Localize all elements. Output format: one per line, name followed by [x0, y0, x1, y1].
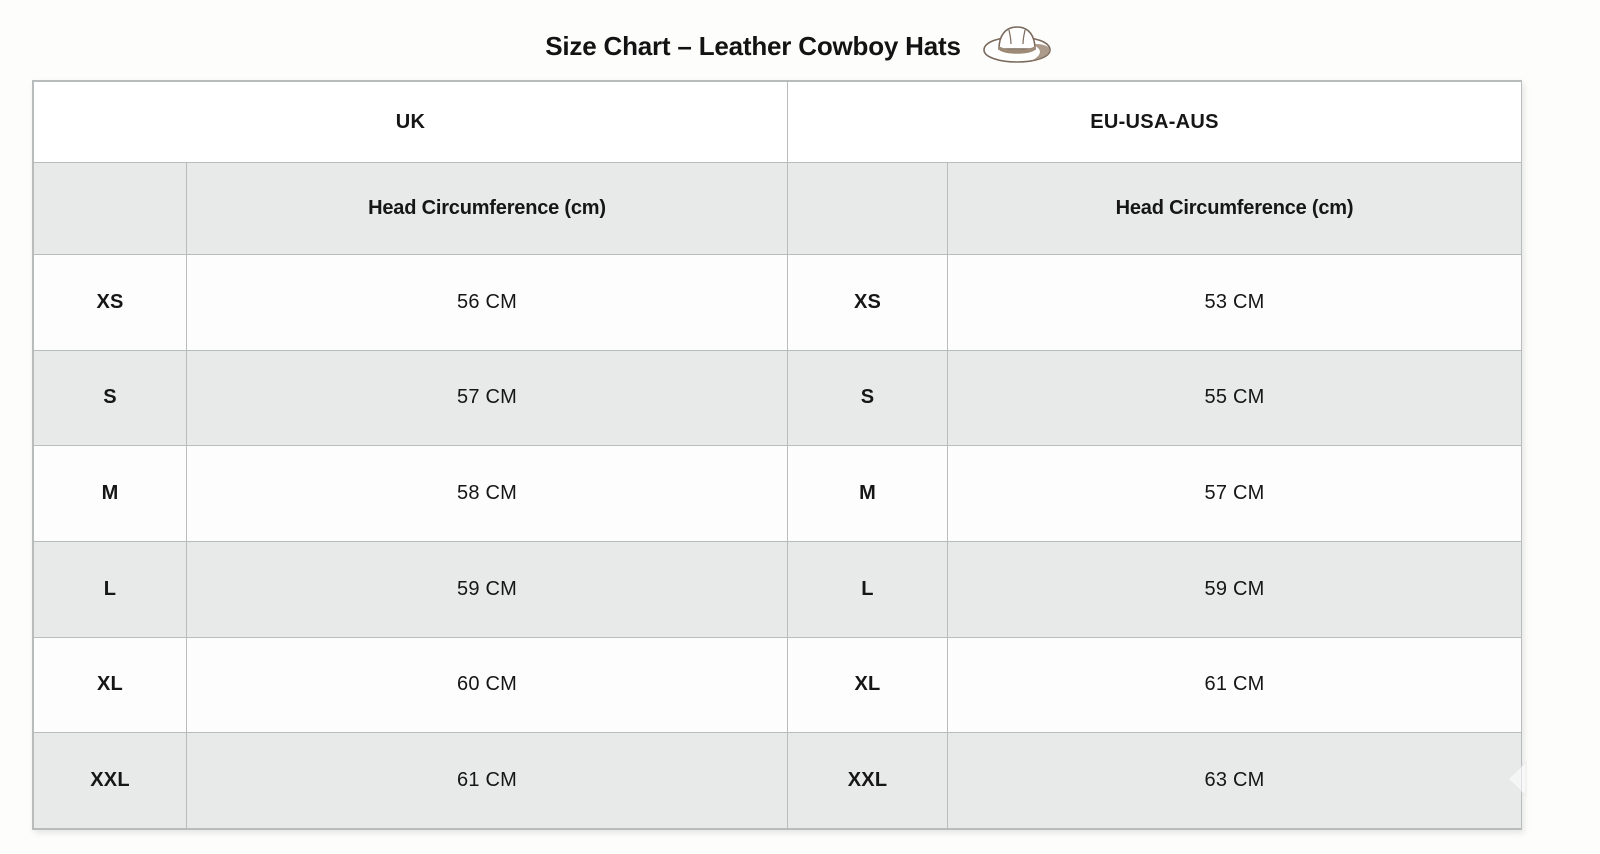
region-header-row: UK EU-USA-AUS: [34, 82, 1522, 163]
uk-measure-value: 56 CM: [187, 255, 788, 351]
uk-size-label: S: [34, 350, 187, 446]
measure-header-uk-size-blank: [34, 163, 187, 255]
uk-measure-value: 57 CM: [187, 350, 788, 446]
eu-size-label: L: [788, 541, 948, 637]
region-header-eu-usa-aus: EU-USA-AUS: [788, 82, 1522, 163]
eu-measure-value: 59 CM: [948, 541, 1522, 637]
uk-measure-value: 60 CM: [187, 637, 788, 733]
table-row: XXL 61 CM XXL 63 CM: [34, 733, 1522, 829]
measure-header-eu: Head Circumference (cm): [948, 163, 1522, 255]
table-row: XL 60 CM XL 61 CM: [34, 637, 1522, 733]
eu-measure-value: 61 CM: [948, 637, 1522, 733]
cowboy-hat-icon: [979, 22, 1055, 71]
size-chart-table-container: UK EU-USA-AUS Head Circumference (cm) He…: [32, 80, 1522, 830]
uk-size-label: XS: [34, 255, 187, 351]
eu-size-label: M: [788, 446, 948, 542]
chevron-left-icon[interactable]: [1496, 756, 1542, 802]
uk-measure-value: 61 CM: [187, 733, 788, 829]
page-title-bar: Size Chart – Leather Cowboy Hats: [0, 22, 1600, 71]
size-chart-table: UK EU-USA-AUS Head Circumference (cm) He…: [33, 81, 1522, 829]
eu-size-label: XXL: [788, 733, 948, 829]
eu-size-label: XS: [788, 255, 948, 351]
measure-header-row: Head Circumference (cm) Head Circumferen…: [34, 163, 1522, 255]
eu-measure-value: 53 CM: [948, 255, 1522, 351]
uk-size-label: XL: [34, 637, 187, 733]
table-row: S 57 CM S 55 CM: [34, 350, 1522, 446]
uk-size-label: M: [34, 446, 187, 542]
eu-size-label: S: [788, 350, 948, 446]
uk-size-label: L: [34, 541, 187, 637]
eu-measure-value: 57 CM: [948, 446, 1522, 542]
table-row: M 58 CM M 57 CM: [34, 446, 1522, 542]
size-chart-page: Size Chart – Leather Cowboy Hats: [0, 0, 1600, 854]
measure-header-uk: Head Circumference (cm): [187, 163, 788, 255]
uk-measure-value: 59 CM: [187, 541, 788, 637]
eu-measure-value: 55 CM: [948, 350, 1522, 446]
page-title: Size Chart – Leather Cowboy Hats: [545, 31, 960, 62]
region-header-uk: UK: [34, 82, 788, 163]
table-row: L 59 CM L 59 CM: [34, 541, 1522, 637]
table-row: XS 56 CM XS 53 CM: [34, 255, 1522, 351]
measure-header-eu-size-blank: [788, 163, 948, 255]
uk-size-label: XXL: [34, 733, 187, 829]
eu-size-label: XL: [788, 637, 948, 733]
eu-measure-value: 63 CM: [948, 733, 1522, 829]
uk-measure-value: 58 CM: [187, 446, 788, 542]
